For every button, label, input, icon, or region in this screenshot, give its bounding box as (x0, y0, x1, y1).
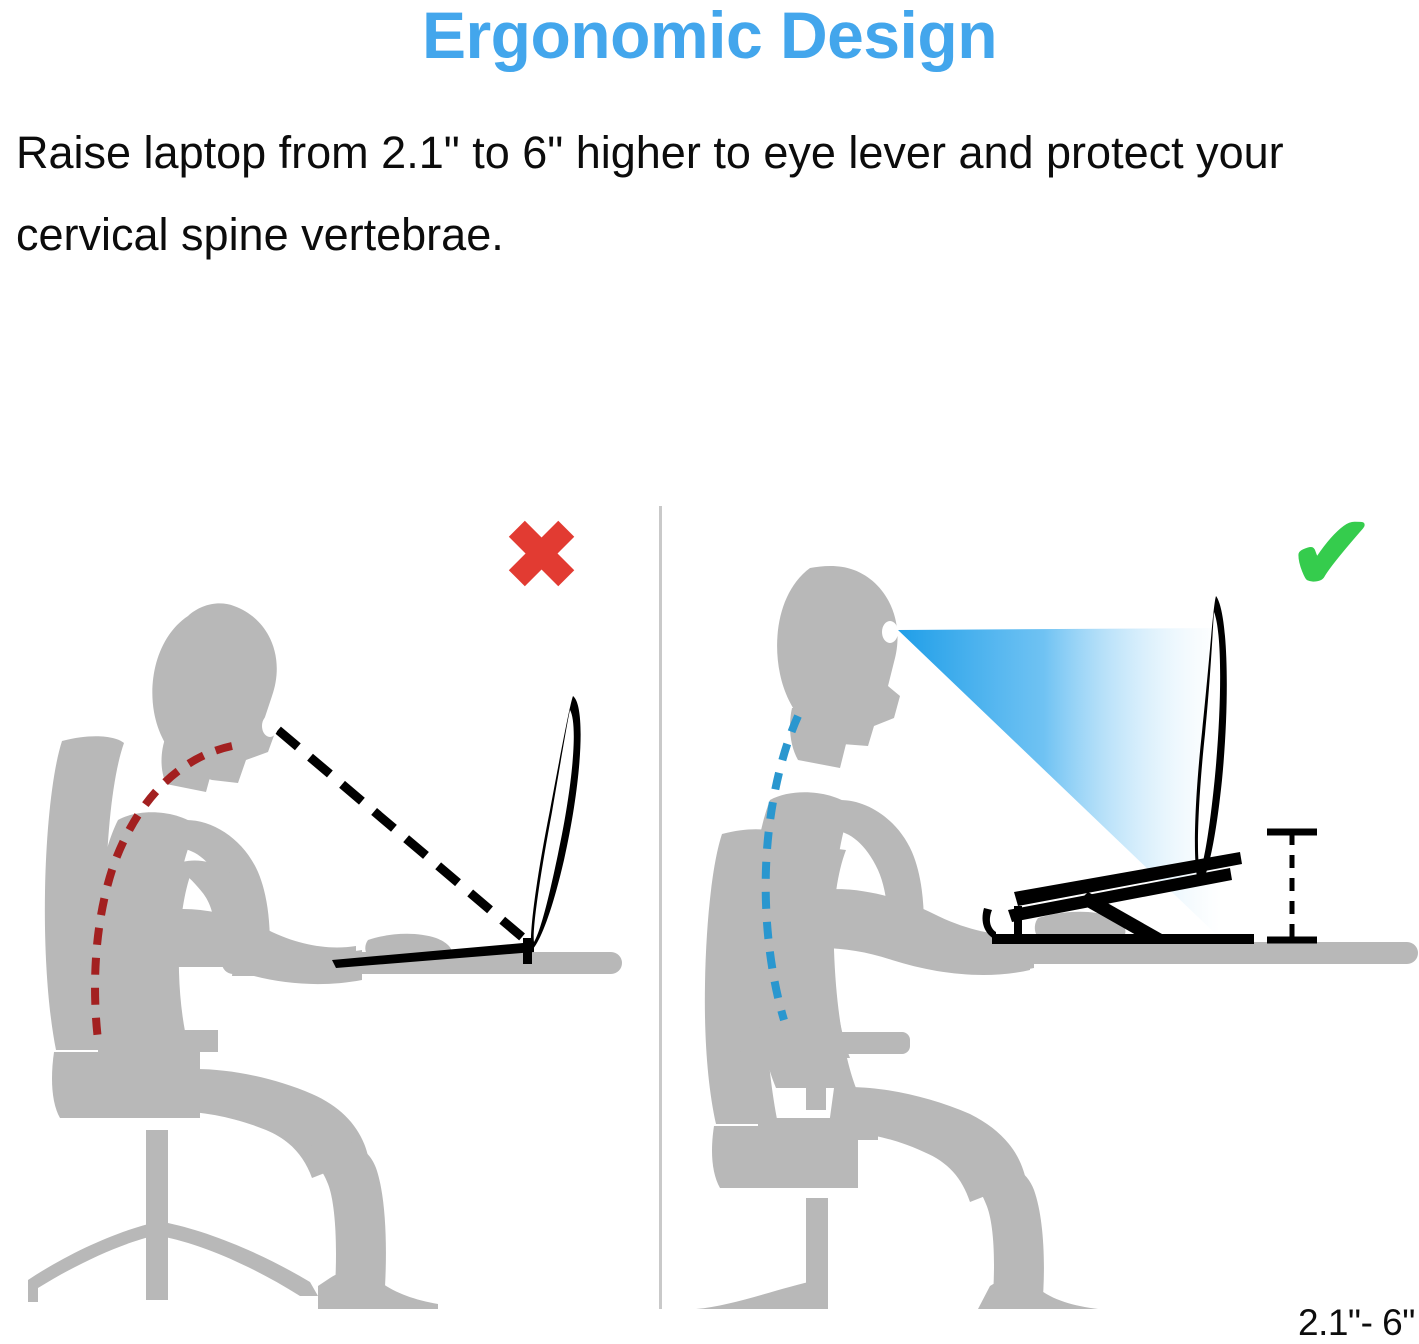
correct-posture-panel: ✔ (662, 440, 1419, 1309)
height-dimension-label: 2.1"- 6" (1298, 1302, 1415, 1344)
incorrect-posture-panel: ✖ (0, 440, 659, 1309)
stand-base-rail (992, 934, 1254, 944)
comparison-illustration: ✖ (0, 440, 1419, 1309)
torso-inner (785, 844, 850, 1058)
chair-base-leg-left (28, 1222, 163, 1302)
eye-right (882, 621, 898, 643)
laptop-left (332, 696, 581, 968)
stand-front-leg (1014, 906, 1022, 936)
header: Ergonomic Design Raise laptop from 2.1" … (0, 0, 1419, 276)
eye-left (262, 715, 278, 737)
incorrect-posture-figure (0, 440, 659, 1309)
page-title: Ergonomic Design (0, 2, 1419, 68)
infographic-page: Ergonomic Design Raise laptop from 2.1" … (0, 0, 1419, 1309)
page-subtitle: Raise laptop from 2.1" to 6" higher to e… (0, 112, 1419, 276)
chair-post (146, 1130, 168, 1300)
sight-line-left (278, 730, 528, 942)
laptop-hinge-left (523, 938, 532, 964)
chair-base-leg-right (160, 1222, 318, 1296)
height-dimension-indicator (1267, 832, 1317, 940)
correct-posture-figure (662, 440, 1419, 1309)
chair-base-leg-left (696, 1280, 822, 1309)
desk-surface-right (920, 942, 1418, 964)
